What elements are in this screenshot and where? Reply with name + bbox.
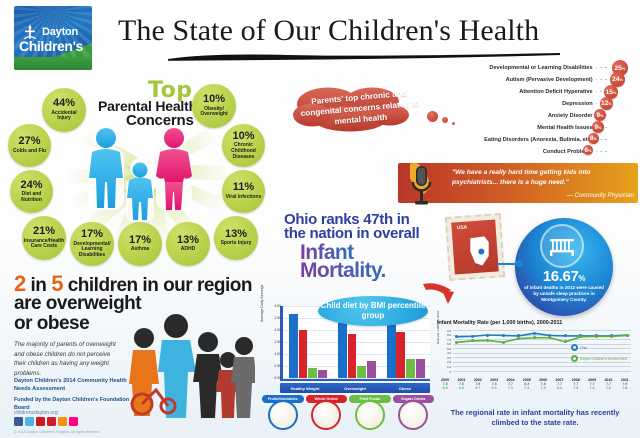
concern-bubble-diet-nutrition: 24% Diet and Nutrition (10, 170, 53, 213)
mh-row: Developmental or Learning Disabilities (430, 62, 610, 73)
table-cell: 7.5 (568, 386, 584, 390)
concern-bubble-colds-and-flu: 27% Colds and Flu (8, 124, 51, 167)
bmi-y-tick: 1.00 (267, 352, 281, 356)
bmi-x-axis-categories: Healthy WeightOverweightObese (280, 383, 430, 393)
im-data-point (626, 334, 629, 337)
obesity-note: The majority of parents of overweight an… (14, 340, 124, 378)
copyright-text: © 2014 Dayton Children's Hospital. All r… (14, 430, 100, 434)
title-swoosh-divider (168, 52, 560, 61)
food-photo-icon (355, 400, 385, 430)
table-cell: 7.3 (535, 386, 551, 390)
microphone-icon (400, 160, 448, 206)
concern-pct: 10% (232, 131, 254, 142)
im-data-point (533, 332, 536, 335)
table-cell: 6.3 (486, 386, 502, 390)
bmi-legend-item: Fried Foods (349, 395, 391, 435)
bmi-y-tick: 0.00 (267, 376, 281, 380)
concern-bubble-viral-infections: 11% Viral Infections (222, 170, 265, 213)
concerns-heading-line2: Concerns (126, 112, 194, 129)
im-legend-item: Ohio (571, 344, 627, 351)
infant-mortality-word2: Mortality. (300, 260, 386, 281)
crib-icon-ring (540, 224, 584, 268)
pct-unit: % (578, 274, 585, 283)
im-y-tick: 7.0 (439, 338, 451, 342)
concern-label: ADHD (178, 247, 198, 253)
bmi-gridline (283, 378, 430, 379)
bmi-category-label: Obese (380, 386, 430, 391)
im-y-tick: 4.0 (439, 351, 451, 355)
mh-unit: % (608, 101, 612, 106)
mh-label: Eating Disorders (Anorexia, Bulimia, etc… (484, 137, 592, 143)
mh-label: Depression (562, 101, 592, 107)
crib-icon (549, 236, 575, 256)
logo-text-childrens: Children's (19, 38, 83, 54)
concern-bubble-insurance-costs: 21% Insurance/Health Care Costs (22, 216, 66, 260)
table-cell: 6.6 (453, 386, 469, 390)
mh-pct: 12 (601, 100, 608, 107)
im-y-tick: 6.0 (439, 342, 451, 346)
im-legend-item: Dayton Children's Service Area (571, 355, 627, 362)
mh-row: Mental Health Issues (430, 122, 610, 133)
youtube-icon[interactable] (36, 417, 45, 426)
concern-pct: 17% (81, 229, 103, 240)
bmi-y-axis-label: Average Daily Servings (260, 285, 264, 322)
concern-pct: 17% (129, 235, 151, 246)
social-links[interactable] (14, 417, 78, 426)
im-y-tick: 8.0 (439, 333, 451, 337)
bmi-bar (308, 368, 317, 378)
table-cell: 6.4 (551, 386, 567, 390)
food-photo-icon (268, 400, 298, 430)
im-data-table: 2000200120022003200420052006200720082009… (437, 378, 633, 390)
mh-label: Anxiety Disorder (548, 113, 593, 119)
bmi-bar (367, 361, 376, 378)
mh-row: Autism (Pervasive Development) (430, 74, 610, 85)
concern-pct: 27% (18, 136, 40, 147)
concern-bubble-obesity: 10% Obesity/ Overweight (192, 84, 236, 128)
dayton-childrens-logo: Dayton Children's (14, 6, 92, 70)
closing-statement: The regional rate in infant mortality ha… (437, 408, 633, 429)
bmi-chart-title: Child diet by BMI percentile group (318, 296, 428, 326)
mh-label: Developmental or Learning Disabilities (489, 65, 592, 71)
bmi-category-label: Overweight (330, 386, 380, 391)
concern-pct: 13% (177, 235, 199, 246)
bmi-bar (338, 315, 347, 378)
bmi-y-tick: 2.50 (267, 316, 281, 320)
usa-stamp: USA (445, 213, 505, 281)
im-legend-label: Dayton Children's Service Area (580, 357, 627, 361)
concern-bubble-chronic-diseases: 10% Chronic Childhood Diseases (222, 124, 265, 167)
unsafe-sleep-stat-circle: 16.67% of infant deaths in 2012 were cau… (515, 218, 613, 316)
mh-label: Autism (Pervasive Development) (506, 77, 593, 83)
im-data-point (502, 341, 505, 344)
im-data-point (502, 334, 505, 337)
mh-unit: % (588, 148, 592, 153)
concern-label: Colds and Flu (10, 149, 49, 155)
im-data-point (486, 334, 489, 337)
im-legend-label: Ohio (580, 346, 587, 350)
concern-bubble-developmental: 17% Developmental/ Learning Disabilities (70, 222, 114, 266)
family-illustration (70, 120, 210, 230)
im-y-tick: 3.0 (439, 356, 451, 360)
mh-unit: % (600, 113, 604, 118)
concern-pct: 24% (20, 180, 42, 191)
mh-row: Attention Deficit Hyperative (430, 86, 610, 97)
im-y-tick: 0 (439, 370, 451, 374)
im-chart: Rate per 1,000 live births 9.08.07.06.05… (437, 328, 633, 382)
mh-value-bubble: 12% (600, 97, 613, 110)
bmi-bar (357, 366, 366, 378)
stamp-inner: USA (451, 220, 499, 275)
footer-assessment-title: Dayton Children's 2014 Community Health … (14, 378, 134, 394)
bmi-y-tick: 2.00 (267, 328, 281, 332)
concern-bubble-asthma: 17% Asthma (118, 222, 162, 266)
bmi-legend-item: Whole Grains (306, 395, 348, 435)
concern-pct: 13% (225, 229, 247, 240)
flickr-icon[interactable] (69, 417, 78, 426)
unsafe-sleep-pct: 16.67% (515, 268, 613, 285)
concern-label: Viral Infections (223, 195, 265, 201)
mh-unit: % (613, 90, 617, 95)
bmi-legend-item: Fruits/Vegetables (262, 395, 304, 435)
rss-icon[interactable] (58, 417, 67, 426)
concern-label: Asthma (128, 247, 152, 253)
mh-value-bubble: 8% (588, 133, 599, 144)
concern-label: Sports Injury (218, 241, 255, 247)
im-legend-swatch (571, 355, 578, 362)
concern-pct: 44% (53, 98, 75, 109)
concern-label: Diet and Nutrition (10, 192, 53, 203)
page-title: The State of Our Children's Health (118, 14, 618, 48)
im-gridline (453, 371, 631, 372)
concern-bubble-accidental-injury: 44% Accidental Injury (42, 88, 86, 132)
mh-dot-leader (596, 67, 607, 69)
mh-dot-leader (596, 79, 607, 81)
bmi-legend-item: Sugary Drinks (393, 395, 435, 435)
quote-source: — Community Physician (452, 192, 634, 199)
mh-unit: % (594, 136, 598, 141)
bmi-bar (289, 314, 298, 378)
unsafe-sleep-description: of infant deaths in 2012 were caused by … (523, 285, 605, 303)
footer-website[interactable]: childrensdayton.org (14, 410, 58, 416)
im-y-tick: 1.0 (439, 365, 451, 369)
bmi-y-tick: 3.00 (267, 304, 281, 308)
bmi-bar (348, 334, 357, 378)
mh-unit: % (622, 66, 626, 71)
bmi-bar (299, 330, 308, 378)
mh-label: Mental Health Issues (537, 125, 592, 131)
im-y-tick: 5.0 (439, 347, 451, 351)
table-row: 6.36.66.76.37.17.37.36.47.57.67.67.8 (437, 386, 633, 390)
mh-label: Attention Deficit Hyperative (519, 89, 592, 95)
mh-pct: 25 (615, 65, 622, 72)
mh-value-bubble: 9% (592, 121, 604, 133)
im-data-point (471, 335, 474, 338)
ohio-map-icon (466, 234, 494, 270)
mh-pct: 24 (612, 76, 619, 83)
mh-unit: % (619, 77, 623, 82)
mh-row: Anxiety Disorder (430, 110, 610, 121)
mh-unit: % (598, 125, 602, 130)
mh-value-bubble: 6% (583, 145, 593, 155)
im-data-point (455, 341, 458, 344)
bmi-bar (396, 332, 405, 378)
table-cell: 7.6 (600, 386, 616, 390)
mh-row: Depression (430, 98, 610, 109)
mh-dot-leader (596, 151, 607, 153)
mh-value-bubble: 9% (594, 109, 606, 121)
bmi-bar (406, 359, 415, 378)
im-y-tick: 2.0 (439, 360, 451, 364)
bmi-bar (318, 370, 327, 378)
concern-label: Accidental Injury (42, 111, 86, 122)
logo-text-dayton: Dayton (42, 26, 78, 38)
obesity-headline-line3: or obese (14, 313, 89, 334)
bmi-y-tick: 1.50 (267, 340, 281, 344)
concern-pct: 10% (203, 94, 225, 105)
table-cell: 7.6 (584, 386, 600, 390)
ohio-rank-line2: the nation in overall (284, 226, 419, 242)
food-photo-icon (311, 400, 341, 430)
children-silhouettes (120, 312, 255, 420)
table-cell: 7.8 (617, 386, 633, 390)
concern-bubble-sports-injury: 13% Sports Injury (214, 216, 258, 260)
bmi-category-label: Healthy Weight (280, 386, 330, 391)
logo-grass-band (14, 57, 92, 70)
bmi-legend: Fruits/VegetablesWhole GrainsFried Foods… (262, 395, 434, 435)
twitter-icon[interactable] (25, 417, 34, 426)
bmi-bar (387, 317, 396, 378)
concern-label: Chronic Childhood Diseases (222, 143, 265, 160)
concern-label: Obesity/ Overweight (192, 107, 236, 118)
table-cell: 7.1 (502, 386, 518, 390)
pinterest-icon[interactable] (47, 417, 56, 426)
quote-text: "We have a really hard time getting kids… (452, 168, 634, 188)
concern-bubble-adhd: 13% ADHD (166, 222, 210, 266)
table-cell: 6.7 (470, 386, 486, 390)
im-legend-swatch (571, 344, 578, 351)
bmi-y-tick: 0.50 (267, 364, 281, 368)
food-photo-icon (398, 400, 428, 430)
table-cell: 6.3 (437, 386, 453, 390)
im-y-tick: 9.0 (439, 329, 451, 333)
mh-pct: 15 (606, 89, 613, 96)
mh-row: Eating Disorders (Anorexia, Bulimia, etc… (422, 134, 610, 145)
im-data-point (595, 335, 598, 338)
im-data-point (533, 336, 536, 339)
concern-pct: 11% (233, 182, 254, 193)
im-chart-title: Infant Mortality Rate (per 1,000 births)… (437, 320, 562, 326)
bmi-bar (416, 359, 425, 378)
im-legend: OhioDayton Children's Service Area (571, 344, 627, 366)
callout-dot (516, 260, 523, 267)
concern-label: Developmental/ Learning Disabilities (70, 242, 114, 259)
table-cell: 7.3 (519, 386, 535, 390)
pct-number: 16.67 (543, 268, 579, 285)
stamp-usa-label: USA (456, 225, 467, 232)
infographic-page: Dayton Children's The State of Our Child… (0, 0, 640, 438)
concern-pct: 21% (33, 226, 55, 237)
concern-label: Insurance/Health Care Costs (21, 239, 67, 250)
facebook-icon[interactable] (14, 417, 23, 426)
